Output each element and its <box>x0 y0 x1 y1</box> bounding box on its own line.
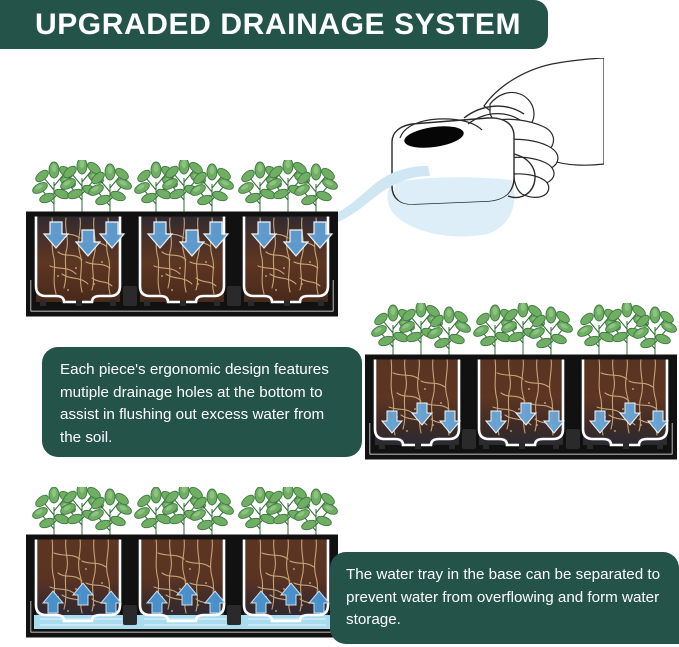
callout-water-tray: The water tray in the base can be separa… <box>330 552 679 644</box>
soil-cells <box>375 359 667 445</box>
planter-illustration-middle <box>365 303 677 481</box>
plant-foliage-row <box>31 160 338 218</box>
callout-drainage-holes: Each piece's ergonomic design features m… <box>42 347 362 457</box>
soil-cells <box>36 539 328 619</box>
planter-illustration-bottom <box>26 487 338 647</box>
watering-can-illustration <box>338 58 604 243</box>
watering-can-water-fill <box>394 177 512 204</box>
page-title-banner: UPGRADED DRAINAGE SYSTEM <box>0 0 548 49</box>
callout-drainage-holes-text: Each piece's ergonomic design features m… <box>60 359 346 449</box>
plant-foliage-row <box>370 303 677 361</box>
callout-water-tray-text: The water tray in the base can be separa… <box>346 564 665 632</box>
page-title: UPGRADED DRAINAGE SYSTEM <box>27 10 521 40</box>
soil-cells <box>36 216 328 302</box>
planter-illustration-top <box>26 160 338 338</box>
